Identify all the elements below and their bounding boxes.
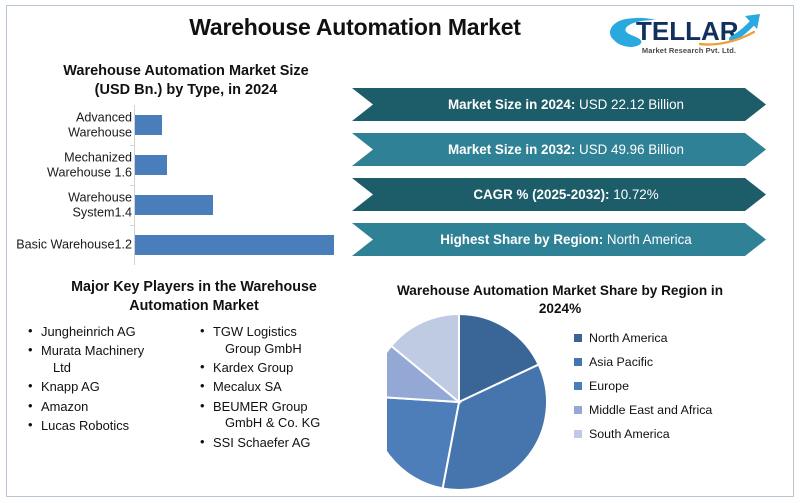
bar-chart-plot: Advanced Warehouse Mechanized Warehouse … (16, 105, 356, 265)
bar-row: Basic Warehouse1.2 (16, 225, 356, 265)
banner-market-size-2032: Market Size in 2032: USD 49.96 Billion (352, 133, 766, 166)
pie-chart-title: Warehouse Automation Market Share by Reg… (390, 282, 730, 317)
bar-row: Advanced Warehouse (16, 105, 356, 145)
key-metrics-banners: Market Size in 2024: USD 22.12 Billion M… (352, 88, 784, 258)
player-name: Knapp AG (41, 379, 100, 394)
list-item: Kardex Group (200, 360, 374, 377)
key-players-title-line1: Major Key Players in the Warehouse (71, 279, 317, 295)
key-players-columns: Jungheinrich AG Murata MachineryLtd Knap… (14, 324, 374, 454)
list-item: TGW LogisticsGroup GmbH (200, 324, 374, 358)
banner-highest-share-region: Highest Share by Region: North America (352, 223, 766, 256)
infographic-page: Warehouse Automation Market TELLAR Marke… (0, 0, 800, 503)
player-name: Lucas Robotics (41, 418, 129, 433)
banner-value: USD 22.12 Billion (579, 97, 684, 112)
legend-label: North America (589, 331, 668, 345)
legend-item-south-america: South America (574, 422, 784, 446)
banner-cagr: CAGR % (2025-2032): 10.72% (352, 178, 766, 211)
pie-chart-graphic (387, 314, 567, 494)
bar-category-label: Mechanized Warehouse 1.6 (16, 151, 132, 180)
bar-row: Warehouse System1.4 (16, 185, 356, 225)
key-players-title-line2: Automation Market (129, 298, 258, 314)
legend-label: South America (589, 427, 670, 441)
banner-value: USD 49.96 Billion (579, 142, 684, 157)
list-item: SSI Schaefer AG (200, 435, 374, 452)
banner-label: CAGR % (2025-2032): (473, 187, 609, 202)
page-title: Warehouse Automation Market (120, 14, 590, 41)
bar-value-warehouse-system (135, 195, 213, 215)
bar-category-label: Advanced Warehouse (16, 111, 132, 140)
player-name: SSI Schaefer AG (213, 435, 310, 450)
key-players-title: Major Key Players in the Warehouse Autom… (14, 278, 374, 315)
legend-swatch-icon (574, 430, 582, 438)
player-name-cont: GmbH & Co. KG (213, 415, 374, 432)
player-name: Amazon (41, 399, 88, 414)
bar-chart-title-line1: Warehouse Automation Market Size (63, 63, 308, 79)
bar-chart-title: Warehouse Automation Market Size (USD Bn… (16, 60, 356, 99)
banner-label: Market Size in 2032: (448, 142, 575, 157)
list-item: Murata MachineryLtd (28, 343, 194, 377)
list-item: BEUMER GroupGmbH & Co. KG (200, 399, 374, 433)
legend-item-north-america: North America (574, 326, 784, 350)
list-item: Knapp AG (28, 379, 194, 396)
banner-label: Market Size in 2024: (448, 97, 575, 112)
legend-item-middle-east-and-africa: Middle East and Africa (574, 398, 784, 422)
player-name-cont: Ltd (41, 360, 194, 377)
stellar-logo-mark: TELLAR (604, 10, 774, 48)
stellar-logo: TELLAR Market Research Pvt. Ltd. (604, 10, 774, 60)
player-name: Jungheinrich AG (41, 324, 136, 339)
key-players-column-left: Jungheinrich AG Murata MachineryLtd Knap… (14, 324, 194, 454)
legend-label: Europe (589, 379, 629, 393)
bar-value-mechanized-warehouse (135, 155, 167, 175)
bar-category-label: Warehouse System1.4 (16, 191, 132, 220)
legend-item-europe: Europe (574, 374, 784, 398)
player-name: BEUMER Group (213, 399, 308, 414)
player-name: Murata Machinery (41, 343, 144, 358)
svg-text:TELLAR: TELLAR (636, 16, 739, 46)
legend-item-asia-pacific: Asia Pacific (574, 350, 784, 374)
player-name-cont: Group GmbH (213, 341, 374, 358)
bar-chart-title-line2: (USD Bn.) by Type, in 2024 (95, 82, 278, 98)
bar-chart-section: Warehouse Automation Market Size (USD Bn… (16, 60, 356, 270)
banner-market-size-2024: Market Size in 2024: USD 22.12 Billion (352, 88, 766, 121)
pie-chart-title-text: Warehouse Automation Market Share by Reg… (397, 283, 723, 316)
player-name: TGW Logistics (213, 324, 297, 339)
bar-row: Mechanized Warehouse 1.6 (16, 145, 356, 185)
pie-chart-legend: North America Asia Pacific Europe Middle… (574, 326, 784, 446)
bar-category-label: Basic Warehouse1.2 (16, 238, 132, 253)
banner-value: 10.72% (613, 187, 658, 202)
legend-swatch-icon (574, 358, 582, 366)
player-name: Mecalux SA (213, 379, 282, 394)
logo-subtitle: Market Research Pvt. Ltd. (604, 46, 774, 55)
bar-value-basic-warehouse (135, 235, 334, 255)
list-item: Mecalux SA (200, 379, 374, 396)
legend-swatch-icon (574, 334, 582, 342)
banner-value: North America (607, 232, 692, 247)
key-players-section: Major Key Players in the Warehouse Autom… (14, 278, 374, 494)
legend-label: Asia Pacific (589, 355, 653, 369)
pie-chart-section: Warehouse Automation Market Share by Reg… (384, 282, 784, 496)
bar-value-advanced-warehouse (135, 115, 162, 135)
legend-label: Middle East and Africa (589, 403, 712, 417)
key-players-column-right: TGW LogisticsGroup GmbH Kardex Group Mec… (194, 324, 374, 454)
list-item: Amazon (28, 399, 194, 416)
legend-swatch-icon (574, 406, 582, 414)
legend-swatch-icon (574, 382, 582, 390)
list-item: Jungheinrich AG (28, 324, 194, 341)
list-item: Lucas Robotics (28, 418, 194, 435)
banner-label: Highest Share by Region: (440, 232, 603, 247)
player-name: Kardex Group (213, 360, 293, 375)
